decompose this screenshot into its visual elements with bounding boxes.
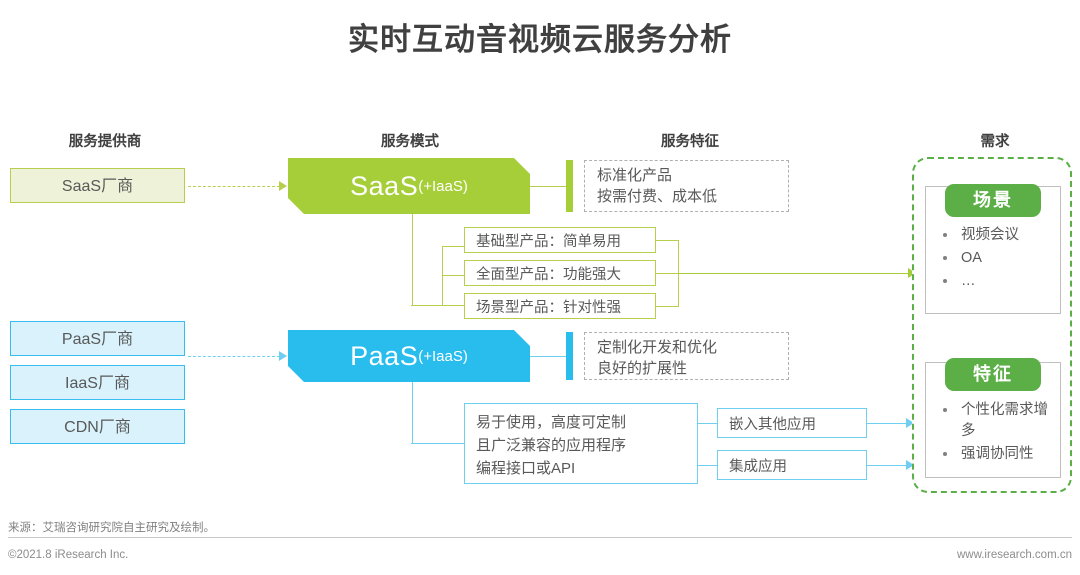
note-paas-line1: 定制化开发和优化 (597, 337, 778, 358)
provider-cdn[interactable]: CDN厂商 (10, 409, 185, 444)
note-paas-features: 定制化开发和优化 良好的扩展性 (584, 332, 789, 380)
mode-paas-name: PaaS (350, 341, 418, 372)
column-header-providers: 服务提供商 (20, 130, 190, 151)
provider-saas[interactable]: SaaS厂商 (10, 168, 185, 203)
demand-pill-scene: 场景 (945, 184, 1041, 217)
connector-saas-to-demand (678, 273, 914, 274)
connector-saas-trunk-foot (411, 305, 443, 306)
connector-api-to-outcome-2 (697, 465, 718, 466)
provider-iaas[interactable]: IaaS厂商 (10, 365, 185, 400)
paas-outcome-integrate[interactable]: 集成应用 (717, 450, 867, 480)
paas-api-box[interactable]: 易于使用，高度可定制 且广泛兼容的应用程序 编程接口或API (464, 403, 698, 484)
connector-paas-trunk (412, 382, 413, 444)
note-saas-line2: 按需付费、成本低 (597, 186, 778, 207)
infographic-canvas: 实时互动音视频云服务分析 服务提供商 服务模式 服务特征 需求 SaaS厂商 P… (0, 0, 1080, 575)
column-header-features: 服务特征 (605, 130, 775, 151)
mode-saas-suffix: (+IaaS) (418, 178, 468, 195)
paas-api-line2: 且广泛兼容的应用程序 (476, 434, 687, 457)
paas-outcome-embed[interactable]: 嵌入其他应用 (717, 408, 867, 438)
connector-paas-provider-to-mode (188, 356, 280, 357)
arrowhead-paas-provider-to-mode (279, 351, 287, 361)
paas-api-line1: 易于使用，高度可定制 (476, 411, 687, 434)
demand-traits-item-0: 个性化需求增多 (935, 400, 1055, 442)
arrowhead-saas-provider-to-mode (279, 181, 287, 191)
connector-paas-to-note (530, 356, 568, 357)
copyright-text: ©2021.8 iResearch Inc. (8, 549, 128, 561)
demand-scene-list: 视频会议 OA … (935, 225, 1055, 294)
connector-saas-branch-spine (442, 246, 443, 306)
mode-paas-suffix: (+IaaS) (418, 348, 468, 365)
connector-saas-provider-to-mode (188, 186, 280, 187)
paas-api-line3: 编程接口或API (476, 457, 687, 480)
connector-saas-branch-1 (442, 246, 466, 247)
column-header-modes: 服务模式 (325, 130, 495, 151)
demand-scene-item-2: … (935, 271, 1055, 292)
connector-api-to-outcome-1 (697, 423, 718, 424)
page-title: 实时互动音视频云服务分析 (0, 14, 1080, 59)
connector-paas-trunk-foot (411, 443, 466, 444)
note-accent-bar-paas (566, 332, 573, 380)
connector-saas-branch-2 (442, 275, 466, 276)
connector-outcome-2-to-demand (866, 465, 910, 466)
saas-product-scenario[interactable]: 场景型产品：针对性强 (464, 293, 656, 319)
website-link[interactable]: www.iresearch.com.cn (957, 549, 1072, 561)
demand-traits-item-1: 强调协同性 (935, 444, 1055, 465)
column-header-demand: 需求 (910, 130, 1080, 151)
provider-paas[interactable]: PaaS厂商 (10, 321, 185, 356)
demand-traits-list: 个性化需求增多 强调协同性 (935, 400, 1055, 467)
demand-scene-item-1: OA (935, 248, 1055, 269)
demand-pill-traits: 特征 (945, 358, 1041, 391)
mode-saas-name: SaaS (350, 171, 418, 202)
connector-outcome-1-to-demand (866, 423, 910, 424)
saas-product-basic[interactable]: 基础型产品：简单易用 (464, 227, 656, 253)
note-paas-line2: 良好的扩展性 (597, 358, 778, 379)
note-accent-bar-saas (566, 160, 573, 212)
connector-saas-branch-3 (442, 305, 466, 306)
connector-saas-trunk (412, 214, 413, 306)
source-note: 来源：艾瑞咨询研究院自主研究及绘制。 (8, 519, 215, 535)
connector-saas-product-3-out (655, 306, 679, 307)
connector-saas-to-note (530, 186, 568, 187)
connector-saas-product-1-out (655, 240, 679, 241)
mode-paas[interactable]: PaaS(+IaaS) (288, 330, 530, 382)
note-saas-line1: 标准化产品 (597, 165, 778, 186)
demand-scene-item-0: 视频会议 (935, 225, 1055, 246)
note-saas-features: 标准化产品 按需付费、成本低 (584, 160, 789, 212)
footer-divider (8, 537, 1072, 538)
saas-product-full[interactable]: 全面型产品：功能强大 (464, 260, 656, 286)
connector-saas-product-2-out (655, 273, 679, 274)
mode-saas[interactable]: SaaS(+IaaS) (288, 158, 530, 214)
